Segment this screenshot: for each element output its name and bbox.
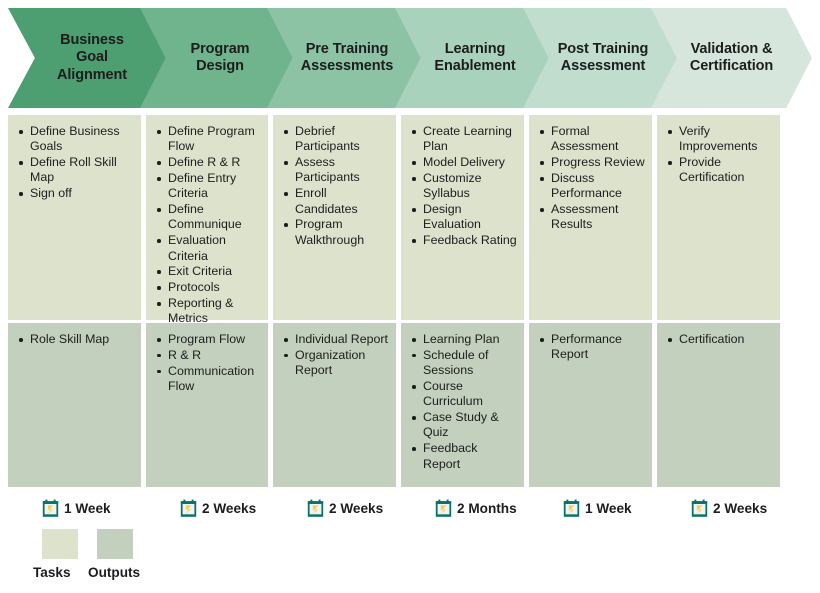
task-item: Debrief Participants xyxy=(295,124,390,155)
task-item: Customize Syllabus xyxy=(423,171,518,202)
phase-pre-training-assessments-duration: 2 Weeks xyxy=(307,496,383,520)
task-item: Evaluation Criteria xyxy=(168,233,262,264)
phase-pre-training-assessments-tasks: Debrief ParticipantsAssess ParticipantsE… xyxy=(273,115,396,320)
legend-outputs-label: Outputs xyxy=(88,565,140,580)
phase-post-training-assessment-outputs: Performance Report xyxy=(529,323,652,487)
task-item: Sign off xyxy=(30,186,135,201)
task-item: Design Evaluation xyxy=(423,202,518,233)
phase-program-design-duration: 2 Weeks xyxy=(180,496,256,520)
calendar-icon xyxy=(180,499,197,518)
task-item: Define Entry Criteria xyxy=(168,171,262,202)
calendar-icon xyxy=(691,499,708,518)
task-item: Exit Criteria xyxy=(168,264,262,279)
phase-business-goal-alignment-tasks: Define Business GoalsDefine Roll Skill M… xyxy=(8,115,141,320)
phase-post-training-assessment-tasks: Formal AssessmentProgress ReviewDiscuss … xyxy=(529,115,652,320)
calendar-icon xyxy=(435,499,452,518)
output-item: Communication Flow xyxy=(168,364,262,395)
task-item: Define Program Flow xyxy=(168,124,262,155)
task-item: Assess Participants xyxy=(295,155,390,186)
phase-post-training-assessment-title: Post Training Assessment xyxy=(549,8,658,108)
task-item: Provide Certification xyxy=(679,155,774,186)
task-item: Enroll Candidates xyxy=(295,186,390,217)
phase-learning-enablement-title: Learning Enablement xyxy=(421,8,530,108)
phase-pre-training-assessments-outputs: Individual ReportOrganization Report xyxy=(273,323,396,487)
task-item: Verify Improvements xyxy=(679,124,774,155)
task-item: Discuss Performance xyxy=(551,171,646,202)
output-item: Case Study & Quiz xyxy=(423,410,518,441)
duration-label: 1 Week xyxy=(64,501,111,516)
phase-learning-enablement-duration: 2 Months xyxy=(435,496,517,520)
output-item: Performance Report xyxy=(551,332,646,363)
phase-learning-enablement-tasks: Create Learning PlanModel DeliveryCustom… xyxy=(401,115,524,320)
phase-validation-certification-duration: 2 Weeks xyxy=(691,496,767,520)
phase-post-training-assessment-duration: 1 Week xyxy=(563,496,632,520)
phase-business-goal-alignment-outputs: Role Skill Map xyxy=(8,323,141,487)
duration-label: 1 Week xyxy=(585,501,632,516)
phase-learning-enablement-outputs: Learning PlanSchedule of SessionsCourse … xyxy=(401,323,524,487)
duration-label: 2 Months xyxy=(457,501,517,516)
phase-business-goal-alignment-title: Business Goal Alignment xyxy=(35,8,149,108)
task-item: Protocols xyxy=(168,280,262,295)
task-item: Program Walkthrough xyxy=(295,217,390,248)
phase-validation-certification-title: Validation & Certification xyxy=(677,8,787,108)
task-item: Model Delivery xyxy=(423,155,518,170)
output-item: Feedback Report xyxy=(423,441,518,472)
task-item: Assessment Results xyxy=(551,202,646,233)
phase-program-design-title: Program Design xyxy=(166,8,275,108)
task-item: Define R & R xyxy=(168,155,262,170)
phase-validation-certification-header[interactable]: Validation & Certification xyxy=(651,8,812,108)
duration-label: 2 Weeks xyxy=(329,501,383,516)
task-item: Reporting & Metrics xyxy=(168,296,262,327)
output-item: R & R xyxy=(168,348,262,363)
output-item: Program Flow xyxy=(168,332,262,347)
legend-tasks-label: Tasks xyxy=(33,565,71,580)
task-item: Feedback Rating xyxy=(423,233,518,248)
process-flow-diagram: Business Goal AlignmentDefine Business G… xyxy=(0,0,820,593)
duration-label: 2 Weeks xyxy=(202,501,256,516)
phase-program-design-outputs: Program FlowR & RCommunication Flow xyxy=(146,323,268,487)
duration-label: 2 Weeks xyxy=(713,501,767,516)
output-item: Role Skill Map xyxy=(30,332,135,347)
calendar-icon xyxy=(563,499,580,518)
output-item: Certification xyxy=(679,332,774,347)
phase-validation-certification-outputs: Certification xyxy=(657,323,780,487)
task-item: Create Learning Plan xyxy=(423,124,518,155)
output-item: Course Curriculum xyxy=(423,379,518,410)
task-item: Define Business Goals xyxy=(30,124,135,155)
task-item: Progress Review xyxy=(551,155,646,170)
task-item: Define Communique xyxy=(168,202,262,233)
output-item: Organization Report xyxy=(295,348,390,379)
calendar-icon xyxy=(42,499,59,518)
output-item: Individual Report xyxy=(295,332,390,347)
phase-program-design-tasks: Define Program FlowDefine R & RDefine En… xyxy=(146,115,268,320)
phase-validation-certification-tasks: Verify ImprovementsProvide Certification xyxy=(657,115,780,320)
legend-outputs-swatch xyxy=(97,529,133,559)
output-item: Learning Plan xyxy=(423,332,518,347)
legend-tasks-swatch xyxy=(42,529,78,559)
output-item: Schedule of Sessions xyxy=(423,348,518,379)
phase-business-goal-alignment-duration: 1 Week xyxy=(42,496,111,520)
task-item: Formal Assessment xyxy=(551,124,646,155)
task-item: Define Roll Skill Map xyxy=(30,155,135,186)
calendar-icon xyxy=(307,499,324,518)
phase-pre-training-assessments-title: Pre Training Assessments xyxy=(293,8,402,108)
